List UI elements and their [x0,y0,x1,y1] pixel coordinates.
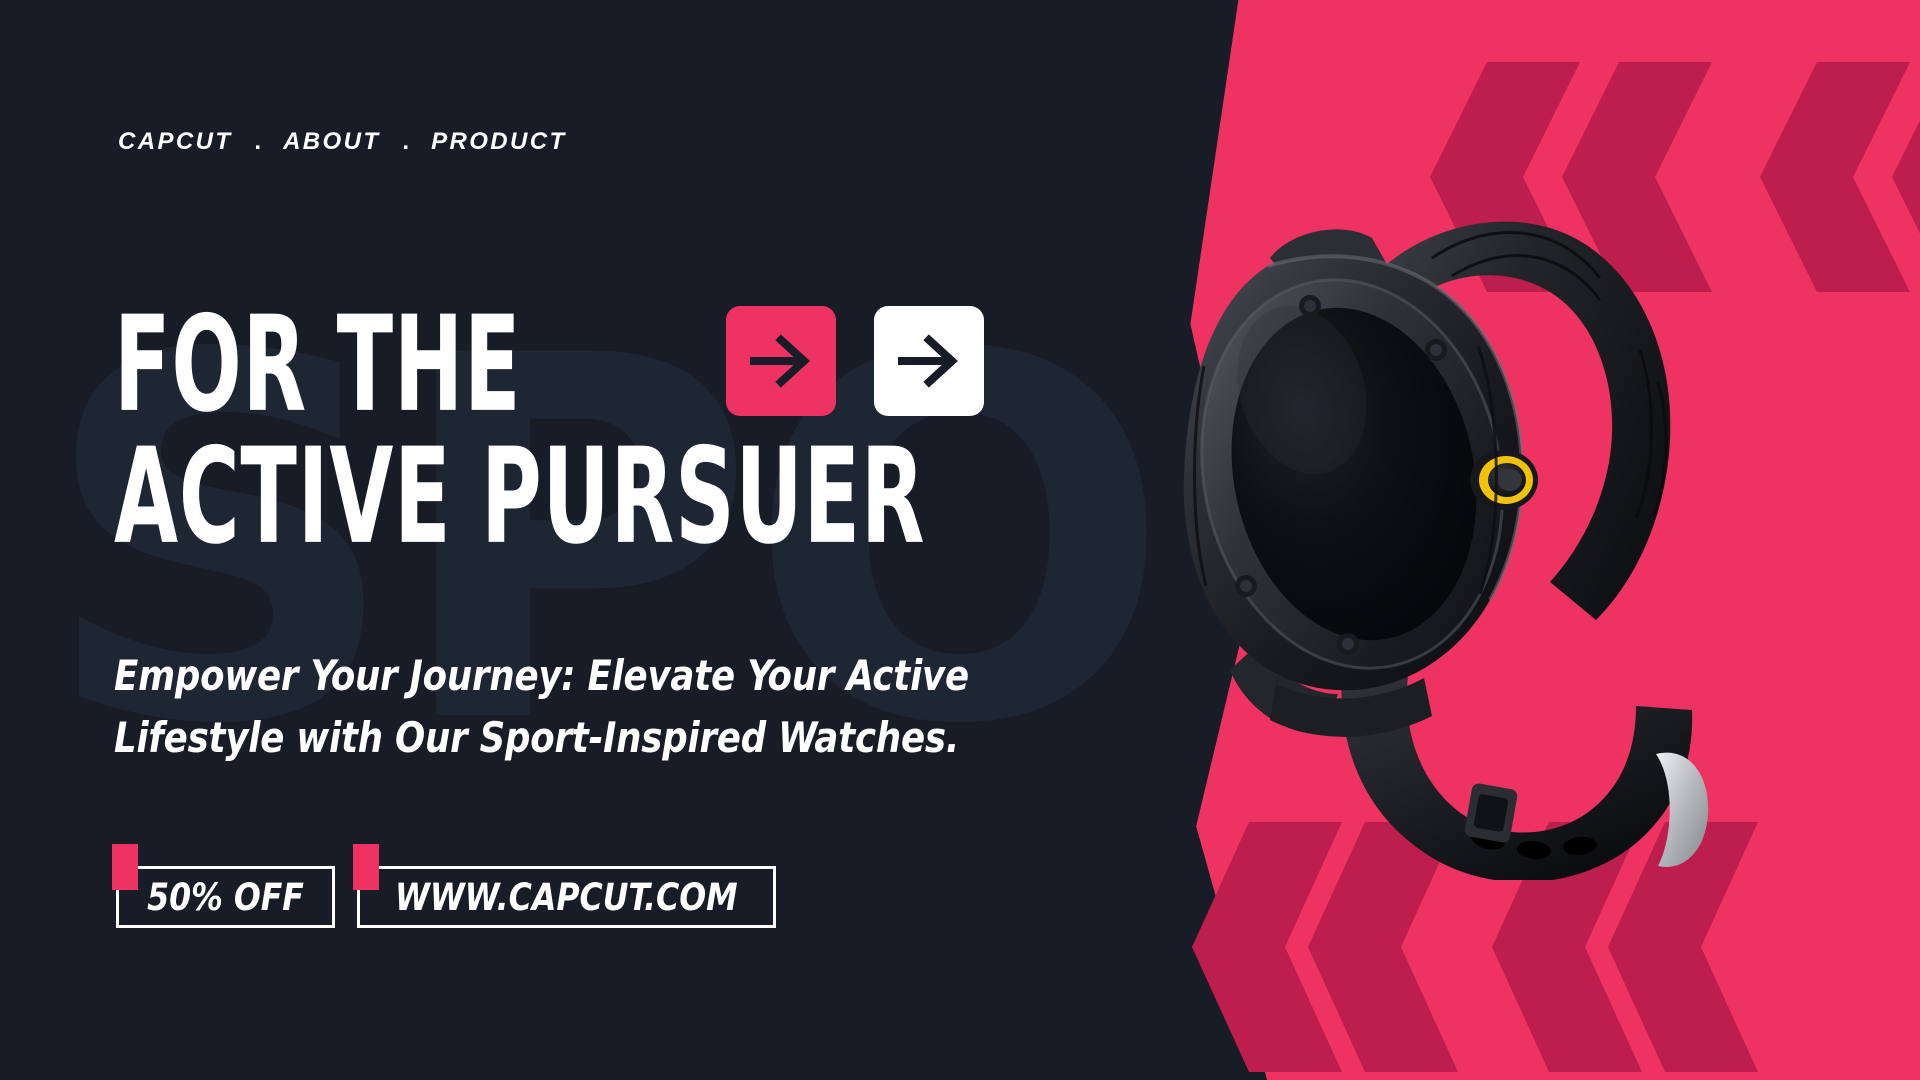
badge-corner-accent [353,844,379,890]
promo-banner: SPO CAPCUT . ABOUT . PRODUCT FOR THE [0,0,1920,1080]
discount-badge[interactable]: 50% OFF [116,866,335,928]
arrow-right-icon [750,330,812,392]
website-label: WWW.CAPCUT.COM [395,876,738,919]
headline-row-1: FOR THE [114,305,1154,423]
cta-arrow-button-secondary[interactable] [874,306,984,416]
badge-outline: 50% OFF [116,866,335,928]
website-badge[interactable]: WWW.CAPCUT.COM [357,866,776,928]
discount-label: 50% OFF [147,876,304,919]
subheading-line-1: Empower Your Journey: Elevate Your Activ… [114,645,941,707]
badge-corner-accent [112,844,138,890]
subheading-line-2: Lifestyle with Our Sport-Inspired Watche… [114,707,941,769]
cta-arrow-group [726,306,984,416]
headline-line-1: FOR THE [114,298,521,430]
subheading-block: Empower Your Journey: Elevate Your Activ… [114,645,994,769]
headline-line-2: ACTIVE PURSUER [114,430,925,562]
nav-item-product[interactable]: PRODUCT [431,128,566,156]
headline-block: FOR THE [114,305,1154,555]
nav-item-about[interactable]: ABOUT [283,128,380,156]
product-image-smartwatch [1080,150,1760,880]
nav-item-capcut[interactable]: CAPCUT [118,128,232,156]
bottom-badge-row: 50% OFF WWW.CAPCUT.COM [116,866,776,928]
arrow-right-icon [898,330,960,392]
nav-separator: . [232,128,283,156]
cta-arrow-button-primary[interactable] [726,306,836,416]
top-nav: CAPCUT . ABOUT . PRODUCT [118,128,567,156]
nav-separator: . [380,128,431,156]
badge-outline: WWW.CAPCUT.COM [357,866,776,928]
watch-crown-button[interactable] [1470,450,1538,510]
